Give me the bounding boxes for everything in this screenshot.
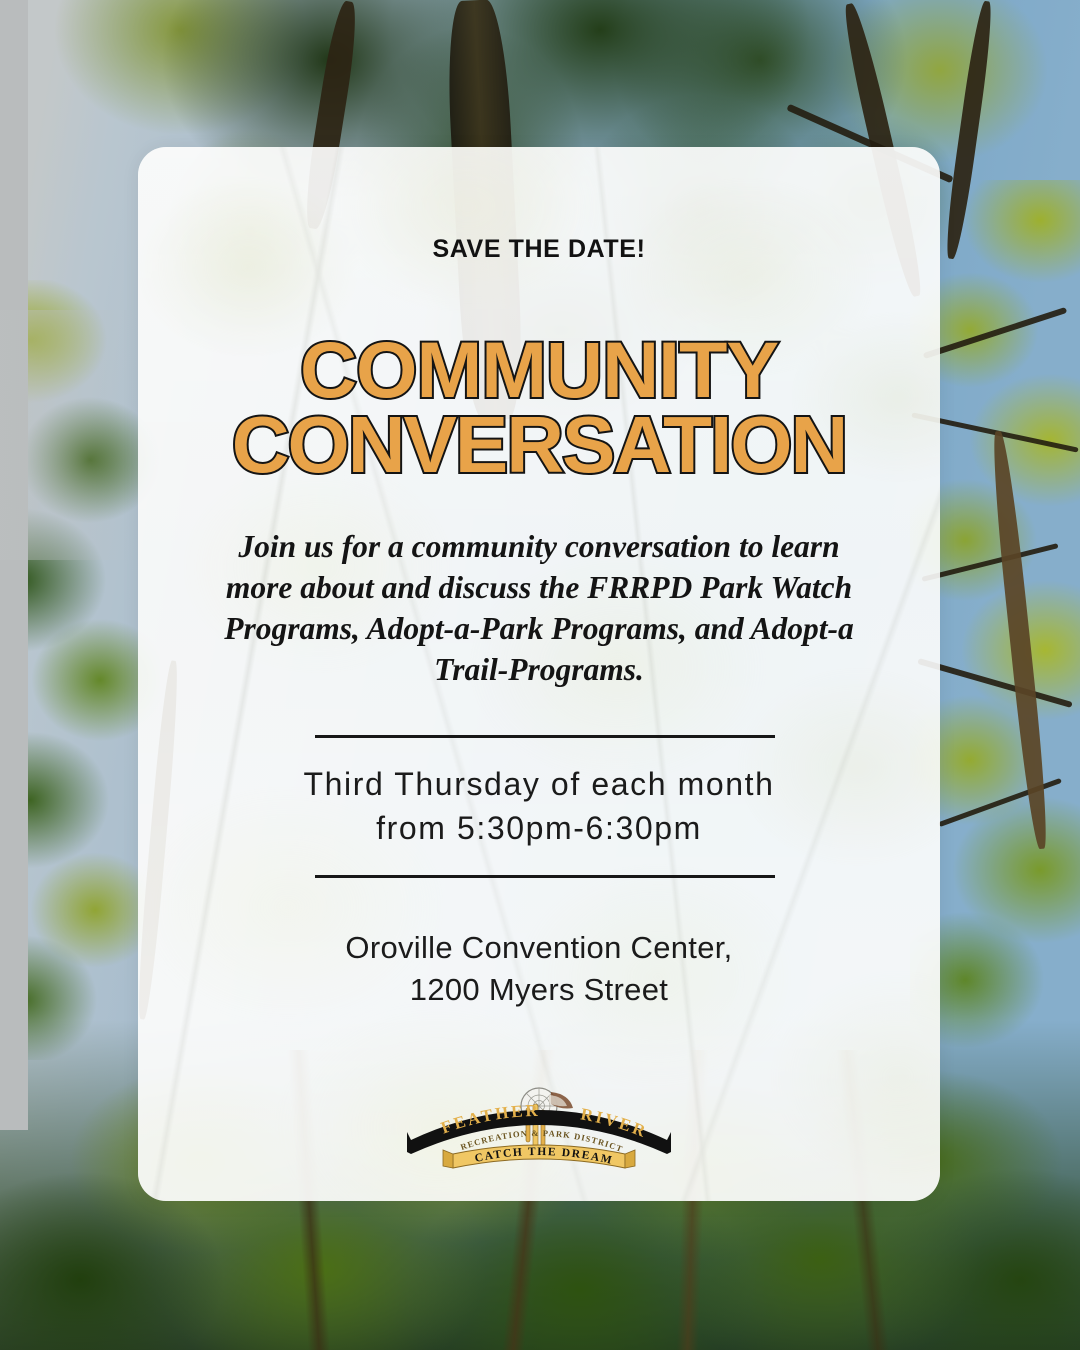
- left-grey-edge: [0, 0, 28, 1130]
- venue-line-2: 1200 Myers Street: [178, 969, 900, 1011]
- page-title-line-2: CONVERSATION: [138, 407, 940, 482]
- frrpd-logo: FEATHER RIVER RECREATION & PARK DISTRICT: [407, 1080, 671, 1172]
- divider-top: [315, 735, 775, 738]
- venue-block: Oroville Convention Center, 1200 Myers S…: [178, 927, 900, 1011]
- description-text: Join us for a community conversation to …: [218, 527, 860, 691]
- left-grey-fade: [0, 310, 138, 560]
- venue-line-1: Oroville Convention Center,: [178, 927, 900, 969]
- schedule-line-2: from 5:30pm-6:30pm: [178, 806, 900, 850]
- content-card: SAVE THE DATE! COMMUNITY CONVERSATION Jo…: [138, 147, 940, 1201]
- divider-bottom: [315, 875, 775, 878]
- poster-canvas: SAVE THE DATE! COMMUNITY CONVERSATION Jo…: [0, 0, 1080, 1350]
- schedule-line-1: Third Thursday of each month: [178, 762, 900, 806]
- eyebrow-save-the-date: SAVE THE DATE!: [138, 235, 940, 264]
- page-title: COMMUNITY CONVERSATION: [138, 333, 940, 482]
- page-title-line-1: COMMUNITY: [138, 333, 940, 407]
- schedule-block: Third Thursday of each month from 5:30pm…: [178, 762, 900, 850]
